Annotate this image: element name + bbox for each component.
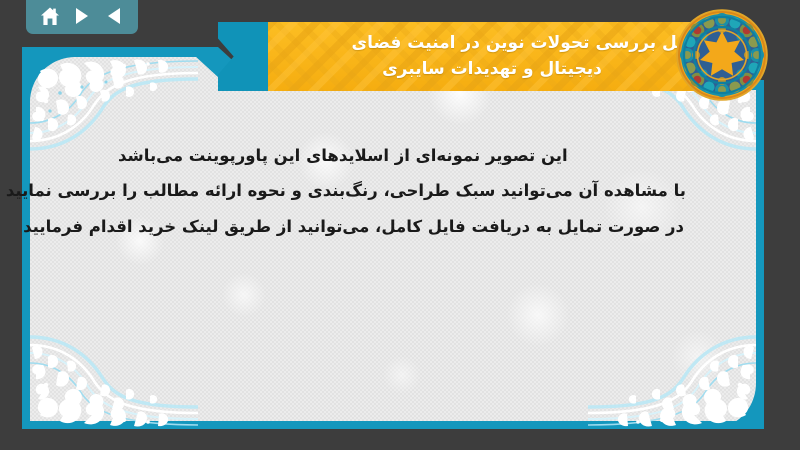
triangle-left-icon <box>106 7 122 25</box>
slide-navigation-toolbar <box>26 0 138 34</box>
body-line-3: در صورت تمایل به دریافت فایل کامل، می‌تو… <box>60 209 686 244</box>
persian-mandala-medallion-icon <box>673 6 771 104</box>
home-icon <box>40 7 60 26</box>
slide-viewer-stage: کامل بررسی تحولات نوین در امنیت فضای دیج… <box>0 0 800 450</box>
previous-slide-button[interactable] <box>100 4 128 28</box>
slide-title-line-2: دیجیتال و تهدیدات سایبری <box>382 57 602 83</box>
slide-title-banner: کامل بررسی تحولات نوین در امنیت فضای دیج… <box>268 22 720 91</box>
body-line-2: با مشاهده آن می‌توانید سبک طراحی، رنگ‌بن… <box>60 173 686 208</box>
triangle-right-icon <box>74 7 90 25</box>
slide-title-line-1: کامل بررسی تحولات نوین در امنیت فضای <box>352 31 706 57</box>
slide-body-text: این تصویر نمونه‌ای از اسلایدهای این پاور… <box>60 138 686 244</box>
home-button[interactable] <box>36 4 64 28</box>
next-slide-button[interactable] <box>68 4 96 28</box>
body-line-1: این تصویر نمونه‌ای از اسلایدهای این پاور… <box>60 138 686 173</box>
